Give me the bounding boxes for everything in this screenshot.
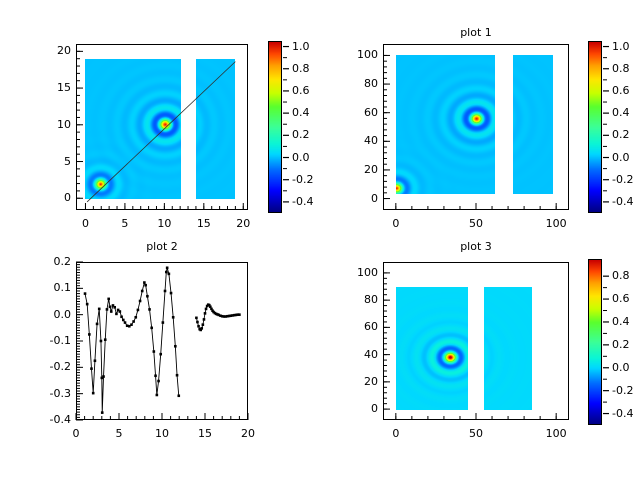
panel-bottom-right-colorbar-label: 0.2 [612,339,630,350]
panel-bottom-right-colorbar-label: -0.2 [612,385,633,396]
figure-canvas: 05101520051015201.00.80.60.40.20.0-0.2-0… [0,0,640,480]
panel-bottom-right-colorbar: 0.80.60.40.20.0-0.2-0.4 [588,259,602,425]
panel-bottom-right-ytick-label: 0 [335,403,378,414]
panel-bottom-right-ytick-label: 60 [335,321,378,332]
panel-bottom-right-ytick-label: 40 [335,349,378,360]
panel-bottom-right-colorbar-label: 0.4 [612,316,630,327]
panel-bottom-right-tick-marks [0,0,640,480]
panel-bottom-right-ytick-label: 20 [335,376,378,387]
panel-bottom-right-xtick-label: 100 [534,428,578,439]
panel-bottom-right-xtick-label: 50 [454,428,498,439]
panel-bottom-right-colorbar-label: 0.0 [612,362,630,373]
panel-bottom-right-colorbar-label: 0.8 [612,270,630,281]
panel-bottom-right: plot 30501000204060801000.80.60.40.20.0-… [0,0,640,480]
panel-bottom-right-ytick-label: 80 [335,294,378,305]
panel-bottom-right-ytick-label: 100 [335,267,378,278]
panel-bottom-right-xtick-label: 0 [374,428,418,439]
panel-bottom-right-colorbar-label: 0.6 [612,293,630,304]
panel-bottom-right-colorbar-label: -0.4 [612,408,633,419]
